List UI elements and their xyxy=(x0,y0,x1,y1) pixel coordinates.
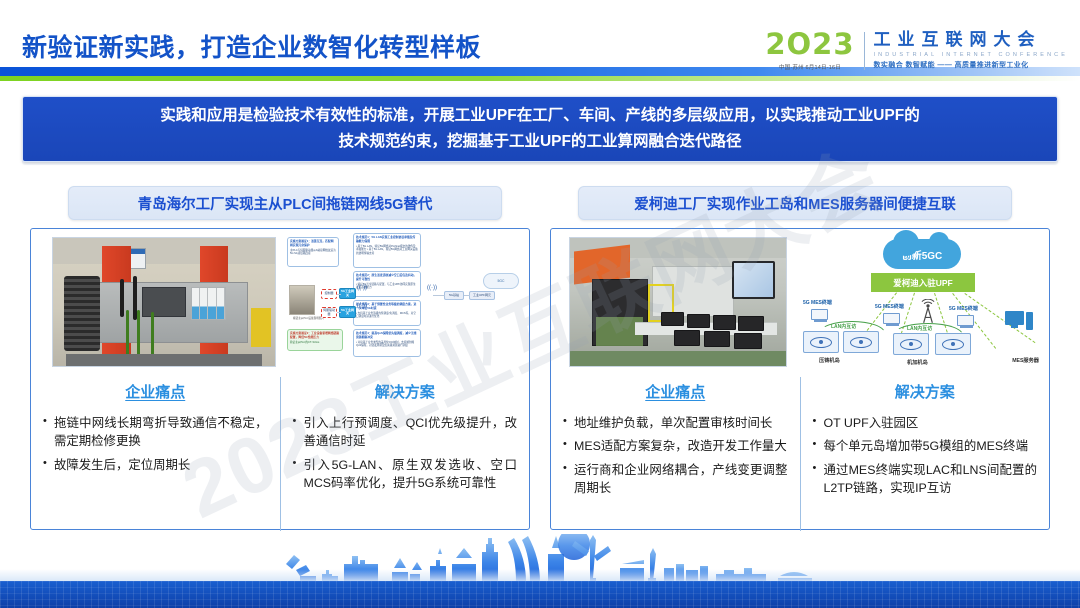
diagram-node-upf: 工业UPF网元 xyxy=(469,291,495,300)
list-item: 通过MES终端实现LAC和LNS间配置的L2TP链路，实现IP互访 xyxy=(813,461,1038,498)
list-item: MES适配方案复杂，改造开发工作量大 xyxy=(563,437,788,455)
logo-year-block: 2O23 中国·苏州 6月14日-16日 xyxy=(765,30,863,71)
diagram-box-spec-3-body: • 支持基于业务等级的预调度/免调度、MCS等，对空口调度时延进行优化 xyxy=(356,312,416,319)
diagram-island-label-1: 压铸机岛 xyxy=(819,357,840,364)
wifi-signal-icon: ((·)) xyxy=(427,285,437,291)
conference-logo: 2O23 中国·苏州 6月14日-16日 工业互联网大会 INDUSTRIAL … xyxy=(765,30,1068,71)
diagram-box-impl-2: 实施方案验证2：工业设备新增网络链路配置，降低5G性能压力 验证主从PLC的CT… xyxy=(287,329,343,351)
diagram-server-label: MES服务器 xyxy=(1012,357,1039,364)
list-item: 地址维护负载，单次配置审核时间长 xyxy=(563,414,788,432)
photo-hmi-screen-icon xyxy=(732,261,775,299)
diagram-island-label-2: 机加机岛 xyxy=(907,359,928,366)
diagram-box-spec-4-body: • 对接基于业务类型的差异化QCI映射，支持端到端QoS保障，对突发周期及优先级… xyxy=(356,341,414,348)
diagram-cloud-5gc: 5GC xyxy=(483,273,519,289)
machine-island-icon xyxy=(935,333,971,355)
diagram-box-spec-1: 技术规范1：5G LAN实现工业控制协议承载及传输能力保障 • 基于5G LAN… xyxy=(353,233,421,268)
diagram-device-caption: 拖链主从PLC设备现场照片 xyxy=(293,316,324,320)
footer xyxy=(0,534,1080,608)
banner-line-1: 实践和应用是检验技术有效性的标准，开展工业UPF在工厂、车间、产线的多层级应用，… xyxy=(160,103,920,129)
left-pain-points-list: 拖链中网线长期弯折导致通信不稳定，需定期检修更换 故障发生后，定位周期长 xyxy=(43,414,268,474)
diagram-node-controller: 控制器 xyxy=(321,289,337,299)
right-solution-list: OT UPF入驻园区 每个单元岛增加带5G模组的MES终端 通过MES终端实现L… xyxy=(813,414,1038,497)
right-case-card: 创新5GC 爱柯迪入驻UPF 5G MES终端 xyxy=(550,228,1050,530)
section-header-left-label: 青岛海尔工厂实现主从PLC间拖链网线5G替代 xyxy=(138,193,433,214)
diagram-node-basestation: 5G基站 xyxy=(444,291,464,300)
diagram-box-impl-2-body: 验证主从PLC的CT<10ms xyxy=(290,341,319,344)
left-media-row: 实施方案验证1：双链互连，匹配网闸实现冗余保护 主PLC与伺服驱动器从A站接网线… xyxy=(31,229,529,375)
right-pain-points-heading: 企业痛点 xyxy=(563,381,788,402)
diagram-node-gateway-1: 5G工业网关 xyxy=(339,288,356,299)
list-item: 运行商和企业网络耦合，产线变更调整周期长 xyxy=(563,461,788,498)
diagram-box-spec-2-title: 技术规范2：原生双发选收减少空口丢包及抖动，提升可靠性 xyxy=(356,274,418,282)
right-media-row: 创新5GC 爱柯迪入驻UPF 5G MES终端 xyxy=(551,229,1049,375)
page-title: 新验证新实践，打造企业数智化转型样板 xyxy=(22,28,481,64)
diagram-terminal-label-1: 5G MES终端 xyxy=(803,299,832,306)
right-pain-points-list: 地址维护负载，单次配置审核时间长 MES适配方案复杂，改造开发工作量大 运行商和… xyxy=(563,414,788,497)
diagram-device-photo xyxy=(289,285,315,315)
section-header-right-label: 爱柯迪工厂实现作业工岛和MES服务器间便捷互联 xyxy=(634,193,955,214)
left-architecture-diagram: 实施方案验证1：双链互连，匹配网闸实现冗余保护 主PLC与伺服驱动器从A站接网线… xyxy=(287,233,527,373)
logo-name-cn: 工业互联网大会 xyxy=(874,31,1068,50)
section-header-left: 青岛海尔工厂实现主从PLC间拖链网线5G替代 xyxy=(68,186,502,220)
logo-dates: 中国·苏州 6月14日-16日 xyxy=(779,63,841,71)
banner-line-2: 技术规范约束，挖掘基于工业UPF的工业算网融合迭代路径 xyxy=(160,129,920,155)
wifi-signal-icon: ((·)) xyxy=(357,285,367,291)
diagram-box-impl-1-title: 实施方案验证1：双链互连，匹配网闸实现冗余保护 xyxy=(290,240,336,248)
diagram-box-spec-4: 技术规范4：提高QoS保障优先级调度，减少无线资源拥塞冲突 • 对接基于业务类型… xyxy=(353,329,421,357)
list-item: 引入5G-LAN、原生双发选收、空口MCS码率优化，提升5G系统可靠性 xyxy=(293,456,518,493)
diagram-terminal-label-2: 5G MES终端 xyxy=(875,303,904,310)
logo-name-en: INDUSTRIAL INTERNET CONFERENCE xyxy=(874,52,1068,58)
mes-terminal-icon xyxy=(883,313,900,324)
mes-terminal-icon xyxy=(811,309,828,320)
diagram-link-label-2: LAN内互访 xyxy=(907,325,932,332)
left-text-columns: 企业痛点 拖链中网线长期弯折导致通信不稳定，需定期检修更换 故障发生后，定位周期… xyxy=(31,377,529,531)
list-item: 拖链中网线长期弯折导致通信不稳定，需定期检修更换 xyxy=(43,414,268,451)
left-factory-photo xyxy=(52,237,276,367)
mes-terminal-icon xyxy=(957,315,974,326)
diagram-link-label-1: LAN内互访 xyxy=(831,323,856,330)
right-solution-column: 解决方案 OT UPF入驻园区 每个单元岛增加带5G模组的MES终端 通过MES… xyxy=(800,377,1050,531)
logo-text-block: 工业互联网大会 INDUSTRIAL INTERNET CONFERENCE 数… xyxy=(865,31,1068,70)
left-solution-heading: 解决方案 xyxy=(293,381,518,402)
footer-haze xyxy=(0,569,1080,581)
header-divider-green xyxy=(0,76,1080,81)
left-case-card: 实施方案验证1：双链互连，匹配网闸实现冗余保护 主PLC与伺服驱动器从A站接网线… xyxy=(30,228,530,530)
left-pain-points-column: 企业痛点 拖链中网线长期弯折导致通信不稳定，需定期检修更换 故障发生后，定位周期… xyxy=(31,377,280,531)
diagram-box-spec-4-title: 技术规范4：提高QoS保障优先级调度，减少无线资源拥塞冲突 xyxy=(356,332,418,340)
machine-island-icon xyxy=(843,331,879,353)
section-header-right: 爱柯迪工厂实现作业工岛和MES服务器间便捷互联 xyxy=(578,186,1012,220)
diagram-box-spec-1-title: 技术规范1：5G LAN实现工业控制协议承载及传输能力保障 xyxy=(356,236,418,244)
logo-year: 2O23 xyxy=(765,30,854,59)
right-factory-photo xyxy=(569,237,787,367)
list-item: 引入上行预调度、QCI优先级提升，改善通信时延 xyxy=(293,414,518,451)
list-item: 每个单元岛增加带5G模组的MES终端 xyxy=(813,437,1038,455)
left-pain-points-heading: 企业痛点 xyxy=(43,381,268,402)
right-network-diagram: 创新5GC 爱柯迪入驻UPF 5G MES终端 xyxy=(797,233,1045,373)
diagram-box-spec-1-body: • 基于5G LAN，验证5G网络对Profinet报文的透传及承载能力 • 基… xyxy=(356,245,418,255)
summary-banner: 实践和应用是检验技术有效性的标准，开展工业UPF在工厂、车间、产线的多层级应用，… xyxy=(22,96,1058,162)
machine-island-icon xyxy=(893,333,929,355)
diagram-terminal-label-3: 5G MES终端 xyxy=(949,305,978,312)
left-solution-list: 引入上行预调度、QCI优先级提升，改善通信时延 引入5G-LAN、原生双发选收、… xyxy=(293,414,518,492)
wifi-signal-icon: ((·)) xyxy=(357,303,367,309)
diagram-box-impl-2-title: 实施方案验证2：工业设备新增网络链路配置，降低5G性能压力 xyxy=(290,332,340,340)
mes-server-icon xyxy=(1005,311,1033,331)
machine-island-icon xyxy=(803,331,839,353)
right-pain-points-column: 企业痛点 地址维护负载，单次配置审核时间长 MES适配方案复杂，改造开发工作量大… xyxy=(551,377,800,531)
diagram-node-servo: 伺服驱动器 xyxy=(321,307,337,318)
diagram-box-impl-1: 实施方案验证1：双链互连，匹配网闸实现冗余保护 主PLC与伺服驱动器从A站接网线… xyxy=(287,237,339,267)
diagram-cloud-5gc: 创新5GC xyxy=(883,239,961,269)
list-item: 故障发生后，定位周期长 xyxy=(43,456,268,474)
footer-band xyxy=(0,581,1080,608)
right-text-columns: 企业痛点 地址维护负载，单次配置审核时间长 MES适配方案复杂，改造开发工作量大… xyxy=(551,377,1049,531)
left-solution-column: 解决方案 引入上行预调度、QCI优先级提升，改善通信时延 引入5G-LAN、原生… xyxy=(280,377,530,531)
diagram-upf-bar: 爱柯迪入驻UPF xyxy=(871,273,975,292)
diagram-node-gateway-2: 5G工业网关 xyxy=(339,306,356,318)
banner-text: 实践和应用是检验技术有效性的标准，开展工业UPF在工厂、车间、产线的多层级应用，… xyxy=(146,103,934,154)
right-solution-heading: 解决方案 xyxy=(813,381,1038,402)
list-item: OT UPF入驻园区 xyxy=(813,414,1038,432)
logo-slogan: 数实融合 数智赋能 —— 高质量推进新型工业化 xyxy=(874,60,1068,70)
diagram-box-impl-1-body: 主PLC与伺服驱动器从A站接网线改造为5G SA双链路连接 xyxy=(290,249,336,256)
diagram-box-spec-2: 技术规范2：原生双发选收减少空口丢包及抖动，提升可靠性 • 验证5G冗余链路与配… xyxy=(353,271,421,297)
slide-root: 新验证新实践，打造企业数智化转型样板 2O23 中国·苏州 6月14日-16日 … xyxy=(0,0,1080,608)
